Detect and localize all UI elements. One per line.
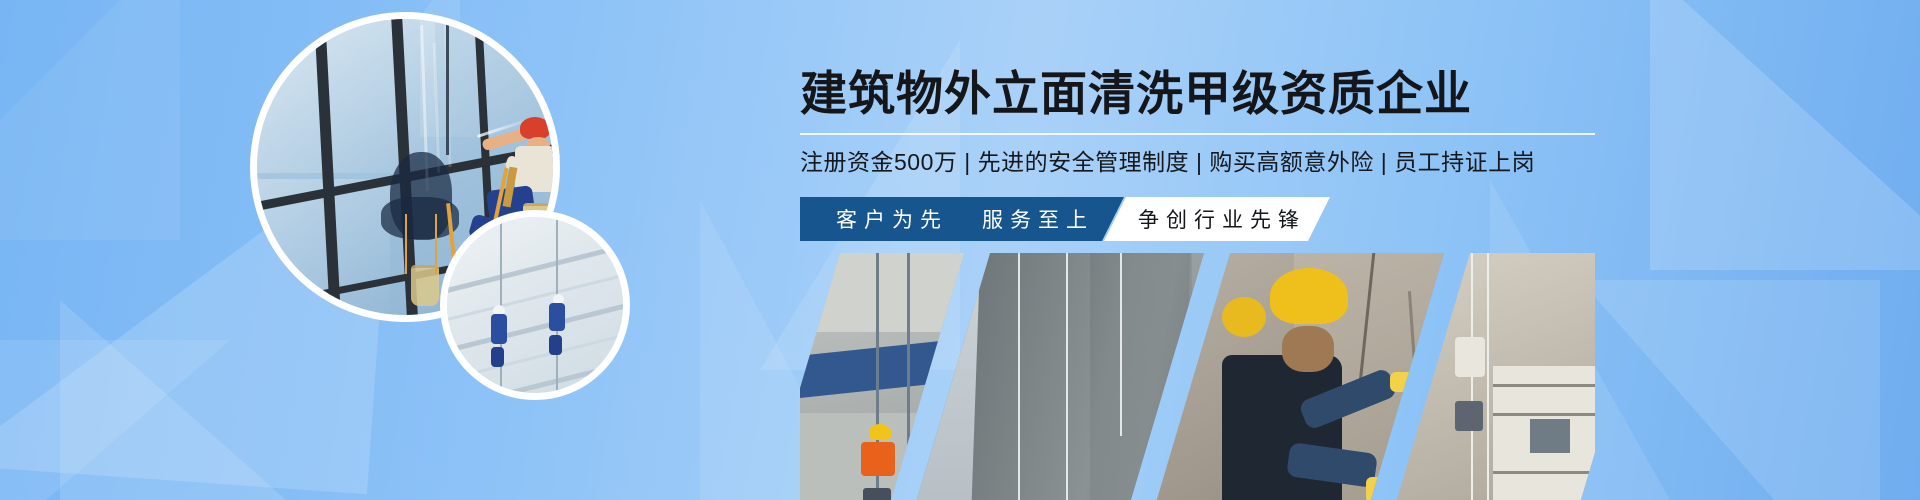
promotional-banner: 建筑物外立面清洗甲级资质企业 注册资金500万 | 先进的安全管理制度 | 购买… <box>0 0 1920 500</box>
balcony-rail <box>1493 413 1595 416</box>
rappel-rope <box>1066 253 1068 500</box>
banner-headline: 建筑物外立面清洗甲级资质企业 <box>800 55 1472 124</box>
slogan-highlight-text: 争创行业先锋 <box>1138 204 1306 234</box>
background-triangle <box>1580 280 1880 500</box>
banner-subline: 注册资金500万 | 先进的安全管理制度 | 购买高额意外险 | 员工持证上岗 <box>800 143 1535 177</box>
circle-photo-small <box>440 210 630 400</box>
facade-workers-photo <box>447 217 623 393</box>
worker-legs <box>549 335 562 355</box>
worker-helmet <box>869 424 891 440</box>
worker-helmet <box>520 117 550 139</box>
rappel-rope <box>1120 253 1122 436</box>
slogan-band: 客户为先 服务至上 争创行业先锋 <box>800 197 1330 241</box>
background-triangle <box>0 340 230 500</box>
rappel-rope <box>1018 253 1020 500</box>
photo-strip <box>800 253 1595 500</box>
balcony-rail <box>1493 384 1595 387</box>
background-triangle <box>1650 0 1920 270</box>
facade-worker-right <box>447 217 623 393</box>
worker-glove <box>1366 477 1398 500</box>
worker-safety-vest <box>861 442 895 476</box>
worker-body <box>1455 337 1485 377</box>
worker-helmet-brim <box>1222 297 1266 337</box>
worker-glove <box>1390 372 1416 392</box>
balcony-rail <box>1493 471 1595 474</box>
building-wall <box>800 253 970 332</box>
worker-helmet <box>1270 268 1348 324</box>
worker-pants <box>1455 401 1483 431</box>
worker-body <box>549 303 565 331</box>
strip-photo-2 <box>910 253 1210 500</box>
slogan-highlight-segment: 争创行业先锋 <box>1104 197 1330 241</box>
headline-divider <box>800 133 1595 135</box>
scaffold-line <box>907 253 910 500</box>
slogan-primary-segment: 客户为先 服务至上 <box>800 197 1124 241</box>
slogan-text-1: 客户为先 <box>836 204 948 234</box>
slogan-text-2: 服务至上 <box>982 204 1094 234</box>
drop-rope <box>1487 253 1489 500</box>
worker-face <box>1282 326 1334 372</box>
worker-legs <box>863 488 891 500</box>
building-window <box>1530 419 1570 453</box>
strip-photo-3 <box>1150 253 1450 500</box>
